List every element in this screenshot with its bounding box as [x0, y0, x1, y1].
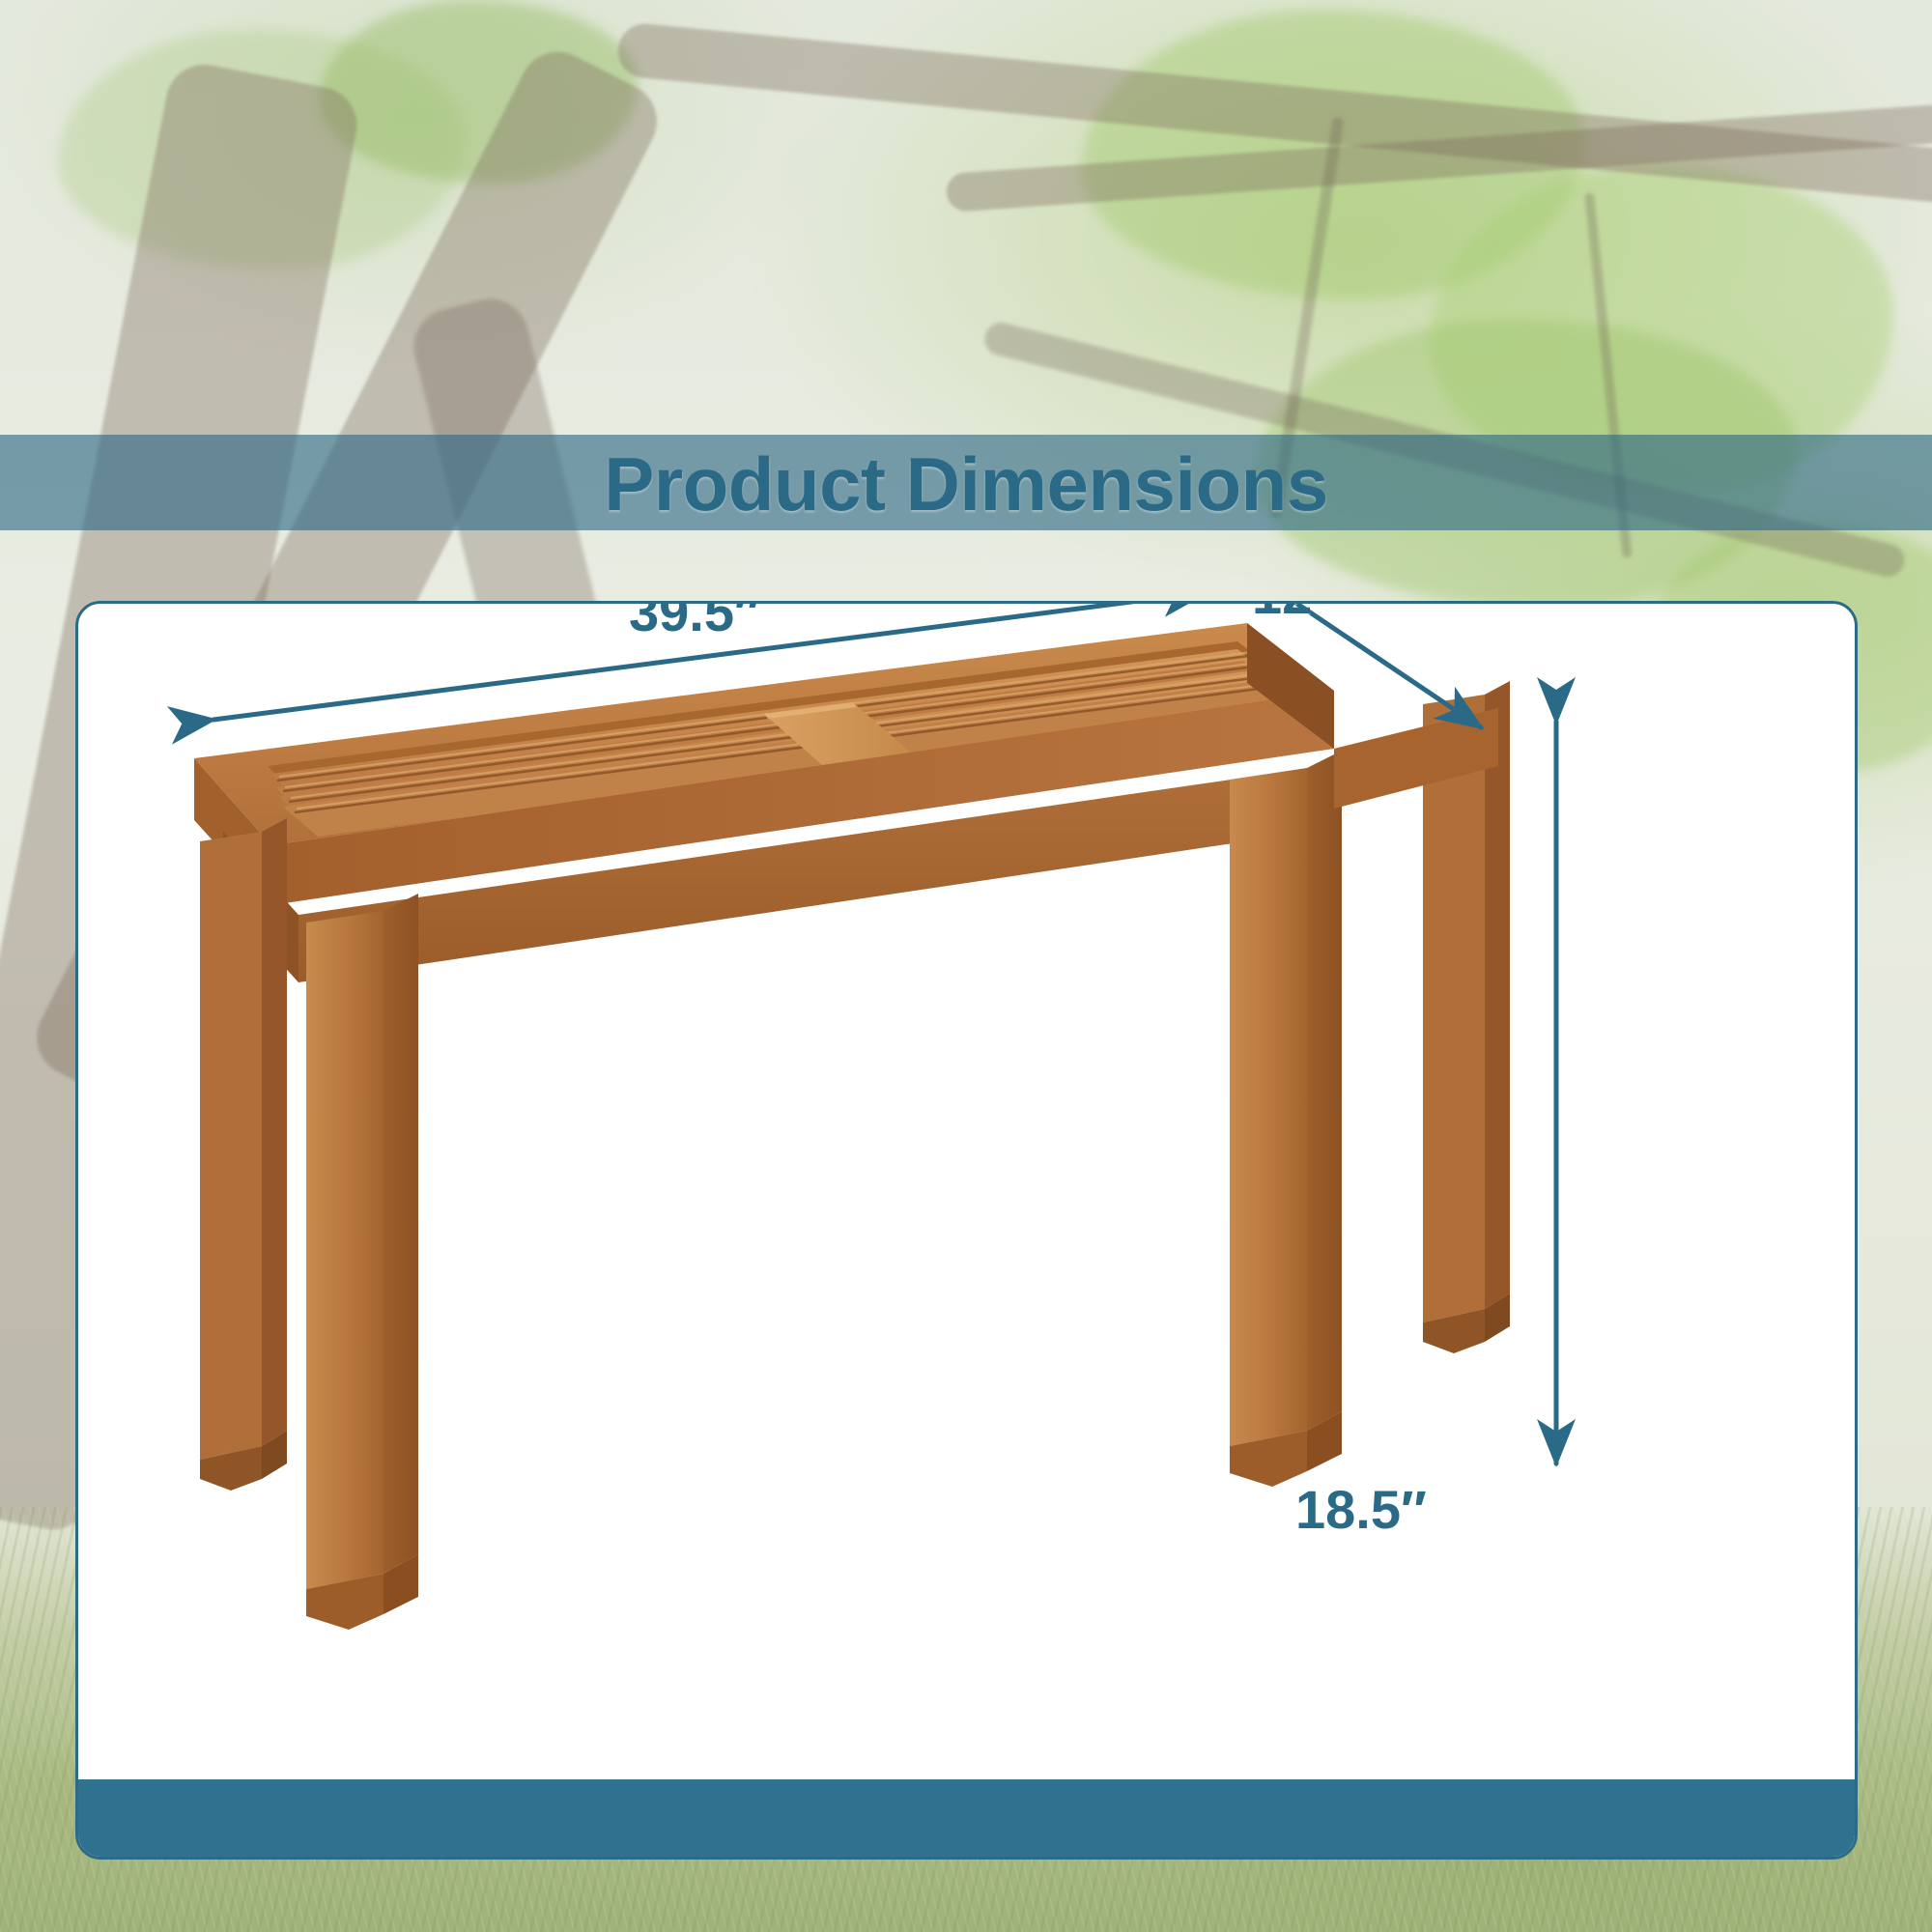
leg-front-right [1230, 751, 1342, 1487]
leg-back-left [200, 818, 287, 1491]
dimension-label-depth: 12″ [1252, 601, 1338, 626]
infographic-root: Product Dimensions [0, 0, 1932, 1932]
product-card: 39.5″ 12″ 18.5″ [75, 601, 1858, 1860]
leg-front-left [306, 894, 418, 1630]
dimension-label-height: 18.5″ [1295, 1478, 1427, 1541]
page-title: Product Dimensions [0, 432, 1932, 536]
card-footer-bar [78, 1779, 1855, 1857]
bench-illustration [78, 604, 1858, 1860]
dimension-label-length: 39.5″ [629, 601, 760, 643]
